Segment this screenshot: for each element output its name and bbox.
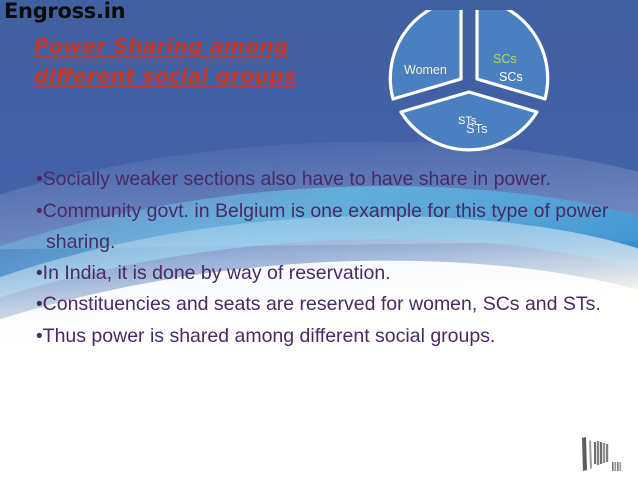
list-item: •Thus power is shared among different so…: [36, 321, 614, 353]
title-line-2: different social groups: [34, 61, 364, 91]
body-content: •Socially weaker sections also have to h…: [36, 164, 614, 352]
title-line-1: Power Sharing among: [34, 31, 364, 61]
watermark-logo: [570, 432, 628, 476]
list-item: •Socially weaker sections also have to h…: [36, 164, 614, 196]
list-item: •Community govt. in Belgium is one examp…: [36, 196, 614, 258]
brand-logo: Engross.in: [4, 1, 125, 22]
page-title: Power Sharing among different social gro…: [34, 31, 364, 91]
pie-slice-women: [390, 10, 461, 99]
bullet-marker: •: [36, 169, 43, 190]
bullet-marker: •: [36, 263, 43, 284]
pie-chart-svg: [380, 10, 570, 155]
slide-canvas: Engross.in Power Sharing among different…: [0, 0, 638, 479]
bullet-marker: •: [36, 201, 43, 222]
list-item-text: In India, it is done by way of reservati…: [43, 262, 391, 284]
bullet-marker: •: [36, 326, 43, 347]
list-item-text: Socially weaker sections also have to ha…: [43, 168, 551, 190]
list-item: •In India, it is done by way of reservat…: [36, 258, 614, 290]
list-item-text: Thus power is shared among different soc…: [43, 325, 496, 347]
list-item-text: Community govt. in Belgium is one exampl…: [43, 200, 609, 254]
bullet-marker: •: [36, 294, 43, 315]
list-item-text: Constituencies and seats are reserved fo…: [43, 293, 601, 315]
pie-chart: Women SCs SCs STs STs: [380, 10, 570, 155]
pie-slice-scs: [477, 10, 548, 99]
pie-slice-sts: [401, 92, 537, 150]
list-item: •Constituencies and seats are reserved f…: [36, 289, 614, 321]
